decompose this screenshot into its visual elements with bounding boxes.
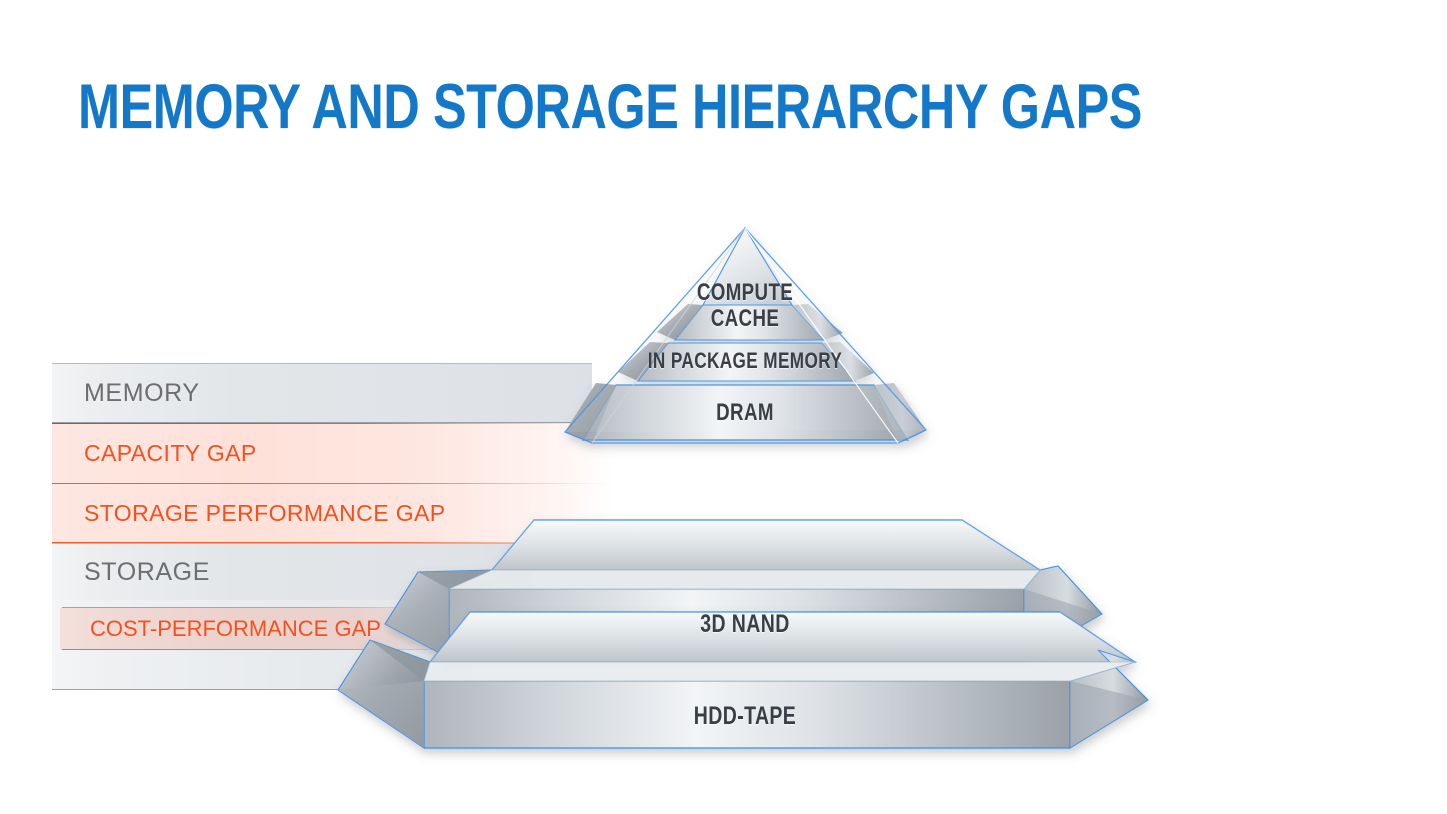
- slide-canvas: MEMORY AND STORAGE HIERARCHY GAPS MEMORY…: [0, 0, 1447, 814]
- tier-label-compute-cache: COMPUTE CACHE: [667, 280, 823, 332]
- divider-cost-performance-top: [62, 607, 462, 608]
- pyramid-dram-hull-right: [874, 383, 926, 443]
- tier-label-dram: DRAM: [667, 399, 823, 427]
- legend-band-cost-performance-gap: COST-PERFORMANCE GAP: [60, 608, 480, 650]
- page-title: MEMORY AND STORAGE HIERARCHY GAPS: [78, 73, 1142, 141]
- legend-band-storage-performance-gap: STORAGE PERFORMANCE GAP: [52, 484, 612, 542]
- divider-cost-performance-bottom: [62, 649, 462, 650]
- tier-label-compute-cache-line2: CACHE: [667, 306, 823, 332]
- slab-hddtape-right-cap: [1070, 650, 1148, 748]
- legend-band-storage: STORAGE: [52, 543, 532, 600]
- slab-hddtape-right-bevel: [1070, 681, 1148, 748]
- slab-3dnand-right-cap: [1024, 566, 1102, 658]
- legend-band-memory: MEMORY: [52, 363, 592, 423]
- legend-label-capacity-gap: CAPACITY GAP: [84, 440, 257, 467]
- legend-label-storage-performance-gap: STORAGE PERFORMANCE GAP: [84, 500, 446, 527]
- tier-label-in-package-memory: IN PACKAGE MEMORY: [648, 348, 843, 374]
- slab-hddtape-bevel-strip: [424, 662, 1135, 681]
- tier-label-hdd-tape: HDD-TAPE: [667, 702, 823, 731]
- tier-label-3d-nand: 3D NAND: [667, 610, 823, 639]
- pyramid-tier-dram-right: [874, 383, 926, 440]
- tier-label-compute-cache-line1: COMPUTE: [667, 280, 823, 306]
- legend-label-memory: MEMORY: [84, 379, 200, 408]
- divider-capacity-top: [52, 423, 612, 424]
- slab-3dnand-bevel-strip: [449, 570, 1040, 589]
- legend-label-cost-performance-gap: COST-PERFORMANCE GAP: [90, 616, 381, 642]
- legend-label-storage: STORAGE: [84, 558, 210, 587]
- slab-hddtape-left-bevel2: [338, 681, 424, 748]
- legend-band-capacity-gap: CAPACITY GAP: [52, 424, 612, 483]
- slab-3dnand-right-bevel: [1024, 589, 1102, 658]
